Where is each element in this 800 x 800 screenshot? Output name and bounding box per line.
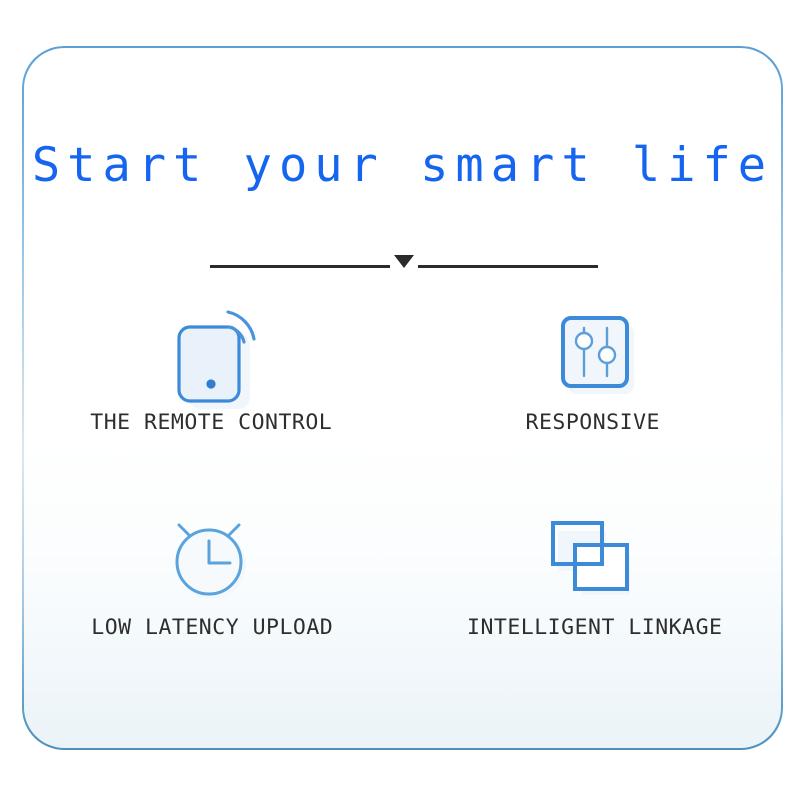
page-title: Start your smart life — [22, 138, 783, 193]
feature-intelligent-linkage[interactable]: INTELLIGENT LINKAGE — [403, 507, 784, 712]
sliders-icon — [551, 302, 639, 406]
feature-label: RESPONSIVE — [526, 410, 660, 435]
overlapping-squares-icon — [542, 507, 638, 611]
feature-label: INTELLIGENT LINKAGE — [467, 615, 722, 640]
feature-label: LOW LATENCY UPLOAD — [91, 615, 333, 640]
feature-remote-control[interactable]: THE REMOTE CONTROL — [22, 302, 403, 507]
divider-line-left — [210, 265, 390, 268]
feature-low-latency-upload[interactable]: LOW LATENCY UPLOAD — [22, 507, 403, 712]
promo-card: Start your smart life — [22, 46, 783, 750]
divider — [210, 251, 598, 275]
feature-label: THE REMOTE CONTROL — [90, 410, 332, 435]
divider-line-right — [418, 265, 598, 268]
page-root: Start your smart life — [0, 0, 800, 800]
alarm-clock-icon — [162, 507, 258, 611]
remote-control-icon — [166, 302, 258, 406]
triangle-down-icon — [394, 255, 414, 268]
feature-grid: THE REMOTE CONTROL — [22, 302, 783, 712]
feature-responsive[interactable]: RESPONSIVE — [403, 302, 784, 507]
